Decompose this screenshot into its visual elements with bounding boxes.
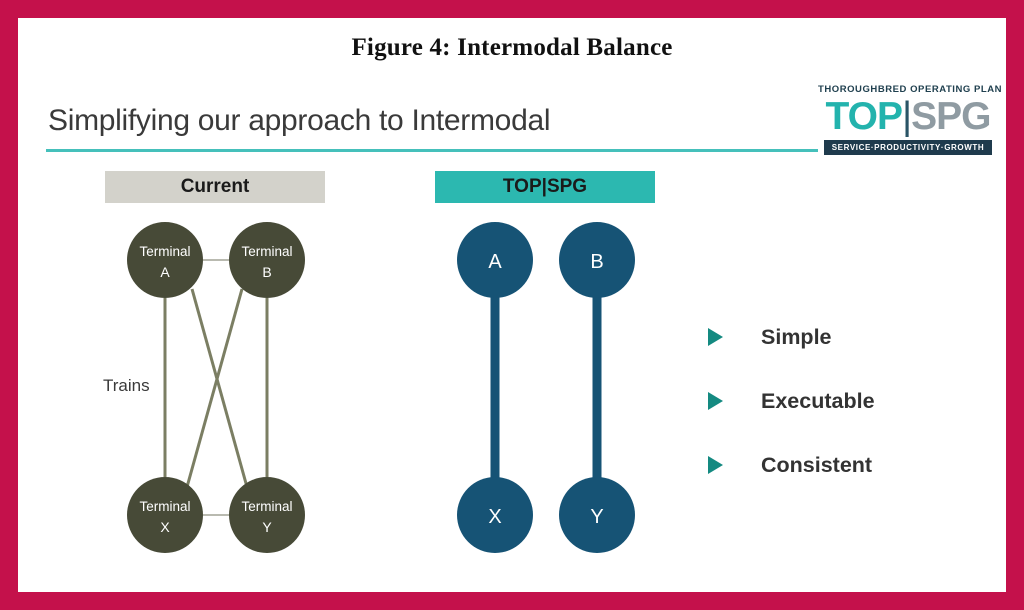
trains-label: Trains xyxy=(103,376,150,395)
frame-border-right xyxy=(1006,0,1024,610)
panel-header-topspg: TOP|SPG xyxy=(435,171,655,203)
node-b: B xyxy=(559,222,635,298)
node-a-line1: Terminal xyxy=(139,244,190,259)
figure-caption: Figure 4: Intermodal Balance xyxy=(0,34,1024,62)
node-b-line2: B xyxy=(262,264,271,280)
node-a-label: A xyxy=(488,251,502,273)
list-item: Consistent xyxy=(708,433,978,497)
edge-A-Y xyxy=(192,289,247,487)
frame-border-bottom xyxy=(0,592,1024,610)
node-y: Y xyxy=(559,477,635,553)
bullet-label: Simple xyxy=(761,325,832,350)
node-x-line2: X xyxy=(160,519,170,535)
edges-topspg xyxy=(495,290,597,485)
topspg-logo: THOROUGHBRED OPERATING PLAN TOP|SPG SERV… xyxy=(818,84,998,156)
node-terminal-b: Terminal B xyxy=(229,222,305,298)
node-x-line1: Terminal xyxy=(139,499,190,514)
triangle-right-icon xyxy=(708,392,723,410)
diagram-topspg-network: A B X Y xyxy=(430,205,680,575)
node-b-label: B xyxy=(590,251,603,273)
node-a-line2: A xyxy=(160,264,170,280)
node-x: X xyxy=(457,477,533,553)
node-x-label: X xyxy=(488,506,501,528)
frame-border-top xyxy=(0,0,1024,18)
panel-header-current: Current xyxy=(105,171,325,203)
node-terminal-a: Terminal A xyxy=(127,222,203,298)
node-a: A xyxy=(457,222,533,298)
logo-tagline: THOROUGHBRED OPERATING PLAN xyxy=(818,84,998,95)
logo-wordmark: TOP|SPG xyxy=(818,96,998,138)
triangle-right-icon xyxy=(708,328,723,346)
triangle-right-icon xyxy=(708,456,723,474)
edges-current xyxy=(165,260,267,515)
node-y-line2: Y xyxy=(262,519,272,535)
node-terminal-x: Terminal X xyxy=(127,477,203,553)
node-b-line1: Terminal xyxy=(241,244,292,259)
logo-word-divider: | xyxy=(902,95,911,138)
bullet-label: Consistent xyxy=(761,453,872,478)
frame-border-left xyxy=(0,0,18,610)
list-item: Executable xyxy=(708,369,978,433)
node-y-label: Y xyxy=(590,506,603,528)
benefits-list: Simple Executable Consistent xyxy=(708,305,978,497)
logo-footer-bar: SERVICE·PRODUCTIVITY·GROWTH xyxy=(824,140,992,155)
list-item: Simple xyxy=(708,305,978,369)
node-y-line1: Terminal xyxy=(241,499,292,514)
page-title: Simplifying our approach to Intermodal xyxy=(48,104,550,138)
bullet-label: Executable xyxy=(761,389,875,414)
node-terminal-y: Terminal Y xyxy=(229,477,305,553)
logo-word-spg: SPG xyxy=(911,95,990,138)
logo-word-top: TOP xyxy=(826,95,902,138)
heading-underline xyxy=(46,149,818,152)
edge-B-X xyxy=(187,289,242,487)
slide-canvas: Figure 4: Intermodal Balance Simplifying… xyxy=(0,0,1024,610)
diagram-current-network: Terminal A Terminal B Terminal X Termina… xyxy=(95,205,345,575)
